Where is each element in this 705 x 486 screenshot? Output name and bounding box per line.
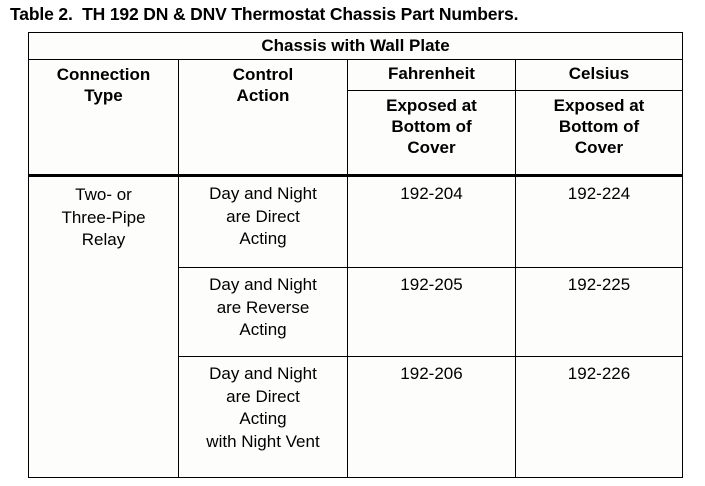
- table-row: Two- or Three-Pipe Relay Day and Night a…: [29, 176, 683, 268]
- table-banner-row: Chassis with Wall Plate: [29, 33, 683, 60]
- header-cell-fahrenheit: Fahrenheit: [348, 60, 516, 91]
- cell-value-control-action-3: Day and Night are Direct Acting with Nig…: [179, 357, 347, 453]
- cell-connection-type: Two- or Three-Pipe Relay: [29, 176, 179, 478]
- header-cell-fahrenheit-exposed: Exposed at Bottom of Cover: [348, 91, 516, 176]
- cell-value-celsius-3: 192-226: [516, 357, 682, 386]
- header-cell-control-action: Control Action: [179, 60, 348, 176]
- table-header-row-primary: Connection Type Control Action Fahrenhei…: [29, 60, 683, 91]
- header-label-connection-type: Connection Type: [29, 60, 178, 106]
- header-label-celsius: Celsius: [516, 60, 682, 88]
- header-cell-celsius: Celsius: [516, 60, 683, 91]
- header-label-control-action: Control Action: [179, 60, 347, 106]
- cell-fahrenheit-row-1: 192-204: [348, 176, 516, 268]
- cell-value-connection-type: Two- or Three-Pipe Relay: [29, 177, 178, 252]
- chassis-part-numbers-table: Chassis with Wall Plate Connection Type …: [28, 32, 683, 478]
- header-cell-celsius-exposed: Exposed at Bottom of Cover: [516, 91, 683, 176]
- cell-control-action-row-3: Day and Night are Direct Acting with Nig…: [179, 357, 348, 478]
- header-sublabel-celsius: Exposed at Bottom of Cover: [516, 91, 682, 158]
- cell-celsius-row-1: 192-224: [516, 176, 683, 268]
- cell-control-action-row-2: Day and Night are Reverse Acting: [179, 268, 348, 357]
- banner-cell-chassis-with-wall-plate: Chassis with Wall Plate: [29, 33, 683, 60]
- cell-value-fahrenheit-1: 192-204: [348, 177, 515, 206]
- page-root: Table 2. TH 192 DN & DNV Thermostat Chas…: [0, 0, 705, 486]
- table-caption: Table 2. TH 192 DN & DNV Thermostat Chas…: [10, 3, 518, 25]
- cell-control-action-row-1: Day and Night are Direct Acting: [179, 176, 348, 268]
- cell-value-control-action-1: Day and Night are Direct Acting: [179, 177, 347, 251]
- banner-label: Chassis with Wall Plate: [29, 33, 682, 59]
- cell-celsius-row-2: 192-225: [516, 268, 683, 357]
- header-label-fahrenheit: Fahrenheit: [348, 60, 515, 88]
- cell-value-fahrenheit-3: 192-206: [348, 357, 515, 386]
- cell-value-fahrenheit-2: 192-205: [348, 268, 515, 297]
- cell-fahrenheit-row-2: 192-205: [348, 268, 516, 357]
- cell-celsius-row-3: 192-226: [516, 357, 683, 478]
- cell-value-celsius-2: 192-225: [516, 268, 682, 297]
- parts-table-container: Chassis with Wall Plate Connection Type …: [28, 32, 682, 478]
- header-sublabel-fahrenheit: Exposed at Bottom of Cover: [348, 91, 515, 158]
- header-cell-connection-type: Connection Type: [29, 60, 179, 176]
- cell-value-control-action-2: Day and Night are Reverse Acting: [179, 268, 347, 342]
- cell-value-celsius-1: 192-224: [516, 177, 682, 206]
- cell-fahrenheit-row-3: 192-206: [348, 357, 516, 478]
